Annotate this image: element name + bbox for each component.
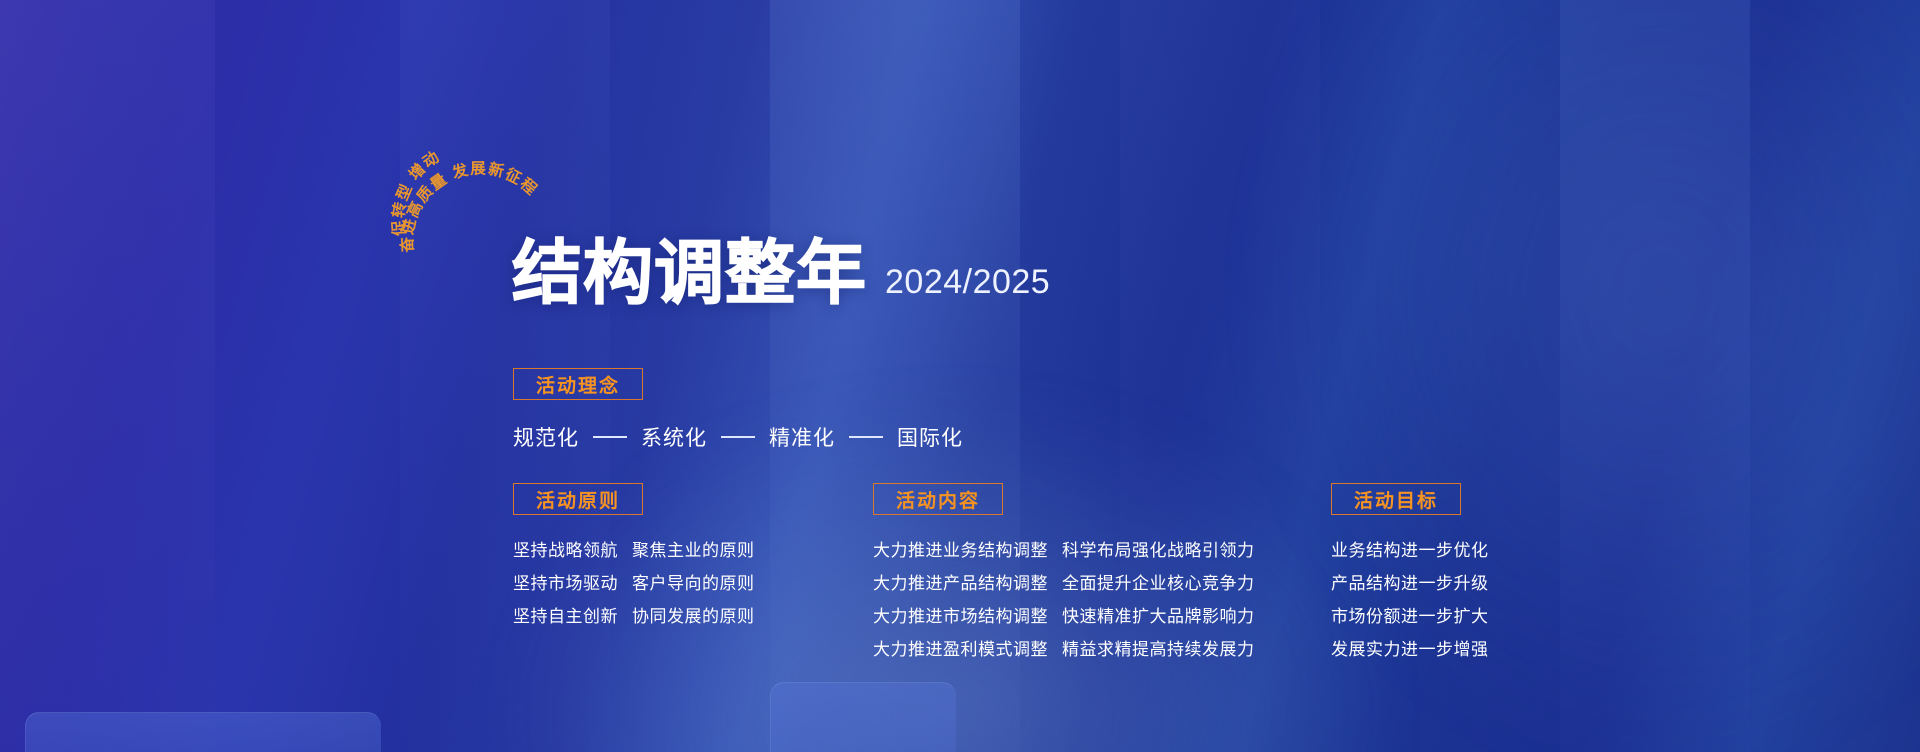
separator-dash xyxy=(849,436,883,438)
list-item: 坚持市场驱动 客户导向的原则 xyxy=(513,570,755,598)
list-item-right: 快速精准扩大品牌影响力 xyxy=(1062,603,1255,631)
list-item-left: 大力推进产品结构调整 xyxy=(873,570,1048,598)
list-item-left: 坚持战略领航 xyxy=(513,537,618,565)
list-item: 市场份额进一步扩大 xyxy=(1331,603,1489,631)
list-item-left: 坚持自主创新 xyxy=(513,603,618,631)
list-item-left: 产品结构进一步升级 xyxy=(1331,570,1489,598)
contents-list: 大力推进业务结构调整 科学布局强化战略引领力 大力推进产品结构调整 全面提升企业… xyxy=(873,537,1255,664)
separator-dash xyxy=(593,436,627,438)
decorative-block xyxy=(770,682,956,752)
concept-section: 活动理念 规范化 系统化 精准化 国际化 xyxy=(513,368,963,452)
list-item-right: 协同发展的原则 xyxy=(632,603,755,631)
goals-list: 业务结构进一步优化 产品结构进一步升级 市场份额进一步扩大 发展实力进一步增强 xyxy=(1331,537,1489,664)
promo-banner: 奋进高质量 发展新征程 促转型 增动能 结构调整年 2024/2025 活动理念… xyxy=(0,0,1920,752)
principles-list: 坚持战略领航 聚焦主业的原则 坚持市场驱动 客户导向的原则 坚持自主创新 协同发… xyxy=(513,537,755,631)
separator-dash xyxy=(721,436,755,438)
list-item-right: 全面提升企业核心竞争力 xyxy=(1062,570,1255,598)
column-contents: 活动内容 大力推进业务结构调整 科学布局强化战略引领力 大力推进产品结构调整 全… xyxy=(873,483,1255,664)
list-item: 大力推进市场结构调整 快速精准扩大品牌影响力 xyxy=(873,603,1255,631)
concept-value: 规范化 xyxy=(513,422,579,452)
list-item: 发展实力进一步增强 xyxy=(1331,636,1489,664)
badge-principles: 活动原则 xyxy=(513,483,643,515)
title-year: 2024/2025 xyxy=(885,263,1050,302)
list-item-left: 大力推进市场结构调整 xyxy=(873,603,1048,631)
list-item: 坚持战略领航 聚焦主业的原则 xyxy=(513,537,755,565)
list-item-left: 市场份额进一步扩大 xyxy=(1331,603,1489,631)
column-goals: 活动目标 业务结构进一步优化 产品结构进一步升级 市场份额进一步扩大 发展实力进… xyxy=(1331,483,1489,664)
list-item-right: 聚焦主业的原则 xyxy=(632,537,755,565)
list-item-left: 发展实力进一步增强 xyxy=(1331,636,1489,664)
list-item-right: 科学布局强化战略引领力 xyxy=(1062,537,1255,565)
decorative-block xyxy=(25,712,381,752)
list-item-left: 坚持市场驱动 xyxy=(513,570,618,598)
concept-value: 系统化 xyxy=(641,422,707,452)
list-item: 坚持自主创新 协同发展的原则 xyxy=(513,603,755,631)
title-row: 结构调整年 2024/2025 xyxy=(512,238,1050,308)
concept-values: 规范化 系统化 精准化 国际化 xyxy=(513,422,963,452)
badge-goals: 活动目标 xyxy=(1331,483,1461,515)
concept-value: 国际化 xyxy=(897,422,963,452)
content-columns: 活动原则 坚持战略领航 聚焦主业的原则 坚持市场驱动 客户导向的原则 坚持自主创… xyxy=(0,483,1920,663)
list-item: 产品结构进一步升级 xyxy=(1331,570,1489,598)
list-item: 大力推进业务结构调整 科学布局强化战略引领力 xyxy=(873,537,1255,565)
badge-concept: 活动理念 xyxy=(513,368,643,400)
badge-contents: 活动内容 xyxy=(873,483,1003,515)
list-item-right: 客户导向的原则 xyxy=(632,570,755,598)
column-principles: 活动原则 坚持战略领航 聚焦主业的原则 坚持市场驱动 客户导向的原则 坚持自主创… xyxy=(513,483,755,631)
list-item-left: 大力推进盈利模式调整 xyxy=(873,636,1048,664)
list-item: 业务结构进一步优化 xyxy=(1331,537,1489,565)
list-item: 大力推进盈利模式调整 精益求精提高持续发展力 xyxy=(873,636,1255,664)
list-item: 大力推进产品结构调整 全面提升企业核心竞争力 xyxy=(873,570,1255,598)
list-item-left: 业务结构进一步优化 xyxy=(1331,537,1489,565)
list-item-right: 精益求精提高持续发展力 xyxy=(1062,636,1255,664)
list-item-left: 大力推进业务结构调整 xyxy=(873,537,1048,565)
concept-value: 精准化 xyxy=(769,422,835,452)
page-title: 结构调整年 xyxy=(512,238,867,308)
